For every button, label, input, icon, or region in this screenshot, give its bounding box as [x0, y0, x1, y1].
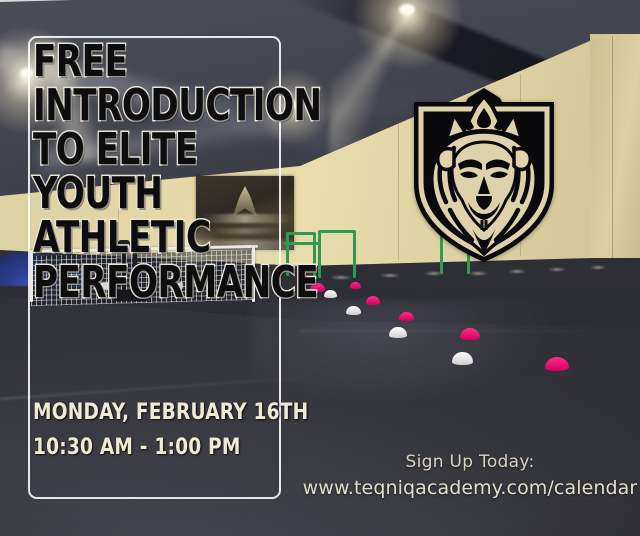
training-cone-3	[350, 282, 361, 289]
training-cone-8	[460, 328, 480, 340]
training-cone-7	[389, 327, 407, 338]
ceiling-lamp-center	[399, 4, 415, 15]
headline-line-1: FREE	[33, 40, 255, 83]
green-hurdle-2	[318, 230, 356, 278]
signup-prompt: Sign Up Today:	[300, 452, 640, 472]
event-details-block: MONDAY, FEBRUARY 16TH 10:30 AM - 1:00 PM	[33, 402, 283, 472]
turf-light-sheen	[250, 300, 640, 450]
wall-pad-highlight-7	[548, 268, 566, 271]
headline-block: FREE INTRODUCTION TO ELITE YOUTH ATHLETI…	[33, 40, 291, 305]
signup-url[interactable]: www.teqniqacademy.com/calendar	[300, 477, 640, 499]
wall-pad-highlight-8	[590, 266, 606, 269]
wall-pad-highlight-3	[380, 274, 400, 277]
headline-line-6: PERFORMANCE	[33, 261, 255, 304]
headline-line-5: ATHLETIC	[33, 216, 255, 259]
ceiling-lamp-left	[20, 68, 33, 78]
right-wall-corner-edge	[612, 36, 613, 258]
promo-poster: FREE INTRODUCTION TO ELITE YOUTH ATHLETI…	[0, 0, 640, 536]
training-cone-6	[399, 312, 414, 321]
training-cone-10	[545, 357, 569, 371]
headline-line-3: TO ELITE	[33, 128, 255, 171]
event-date: MONDAY, FEBRUARY 16TH	[33, 402, 268, 424]
wall-pad-highlight-6	[508, 270, 526, 273]
training-cone-9	[452, 352, 473, 365]
lion-crown-shield-logo	[398, 88, 570, 266]
headline-line-2: INTRODUCTION	[33, 84, 255, 127]
wall-pad-highlight-5	[468, 272, 488, 275]
training-cone-4	[366, 296, 380, 305]
signup-cta-block: Sign Up Today: www.teqniqacademy.com/cal…	[300, 452, 640, 499]
headline-line-4: YOUTH	[33, 172, 255, 215]
training-cone-5	[346, 306, 361, 315]
training-cone-2	[324, 290, 337, 298]
right-wall-panel	[590, 34, 640, 262]
event-time: 10:30 AM - 1:00 PM	[33, 437, 268, 459]
